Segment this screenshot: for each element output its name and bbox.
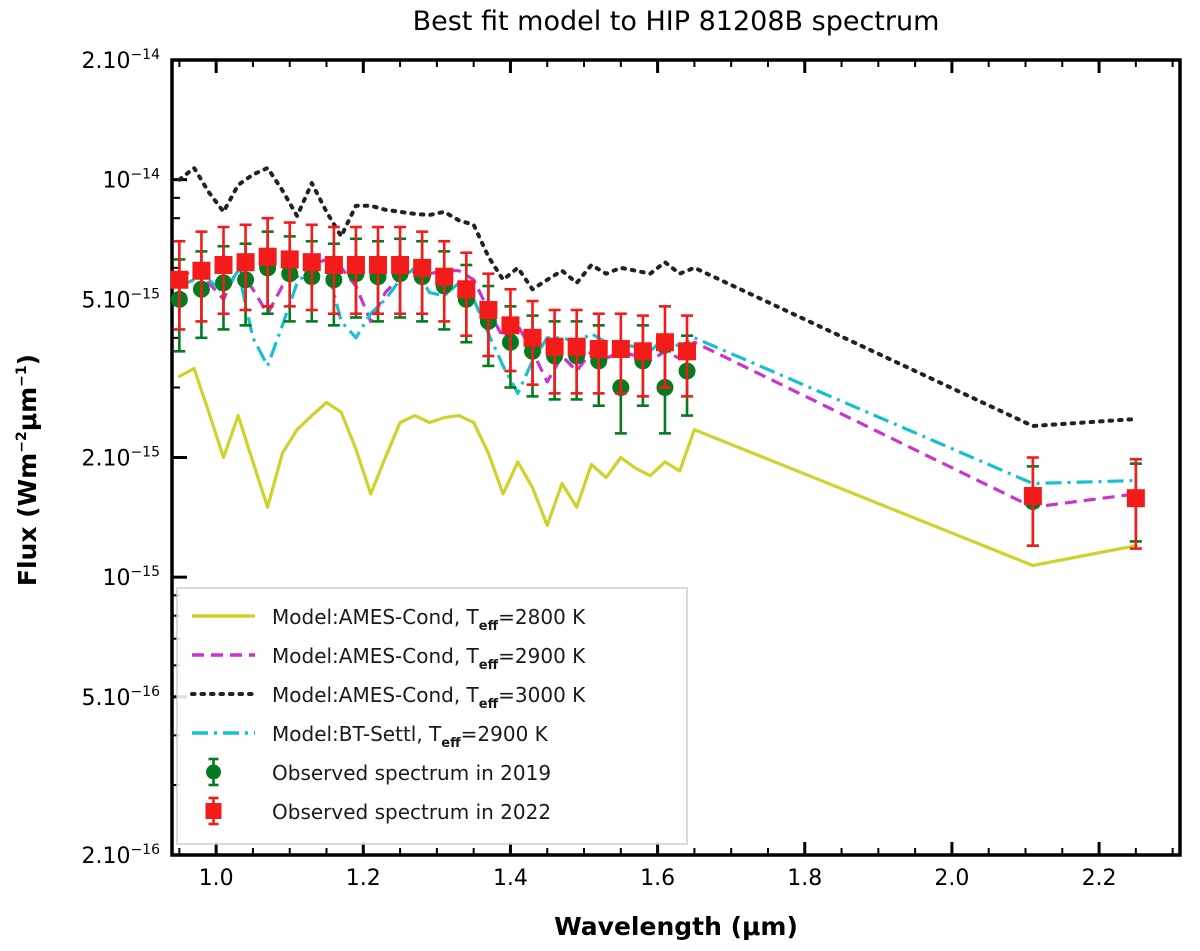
data-point-square xyxy=(413,259,431,277)
data-point-square xyxy=(656,333,674,351)
x-tick-label: 1.6 xyxy=(640,866,675,891)
data-point-square xyxy=(501,316,519,334)
spectrum-plot: Best fit model to HIP 81208B spectrum 1.… xyxy=(0,0,1200,951)
data-point-square xyxy=(259,248,277,266)
data-point-square xyxy=(479,301,497,319)
x-tick-label: 1.4 xyxy=(493,866,528,891)
x-tick-label: 1.2 xyxy=(346,866,381,891)
data-point-square xyxy=(192,262,210,280)
data-point-square xyxy=(325,256,343,274)
data-point-square xyxy=(568,338,586,356)
legend-item-label: Observed spectrum in 2022 xyxy=(272,800,551,824)
data-point-square xyxy=(1024,487,1042,505)
page-title: Best fit model to HIP 81208B spectrum xyxy=(413,6,940,37)
data-point-square xyxy=(170,271,188,289)
x-tick-label: 1.8 xyxy=(787,866,822,891)
data-point-square xyxy=(347,256,365,274)
data-point-square xyxy=(391,256,409,274)
data-point-square xyxy=(524,329,542,347)
y-axis-label-text: Flux (Wm−2μm−1) xyxy=(13,354,42,586)
legend-swatch-circle xyxy=(206,765,221,780)
data-point-square xyxy=(1127,489,1145,507)
data-point-square xyxy=(590,340,608,358)
x-tick-label: 1.0 xyxy=(199,866,234,891)
data-point-square xyxy=(435,268,453,286)
data-point-square xyxy=(678,342,696,360)
data-point-square xyxy=(237,253,255,271)
y-axis-label: Flux (Wm−2μm−1) xyxy=(13,354,42,586)
data-point-square xyxy=(612,340,630,358)
data-point-square xyxy=(281,250,299,268)
data-point-square xyxy=(369,256,387,274)
data-point-square xyxy=(303,253,321,271)
legend-swatch-square xyxy=(206,803,222,819)
x-axis-label: Wavelength (μm) xyxy=(554,912,798,941)
data-point-square xyxy=(457,280,475,298)
data-point-square xyxy=(634,342,652,360)
data-point-square xyxy=(546,338,564,356)
x-tick-label: 2.2 xyxy=(1082,866,1117,891)
x-tick-label: 2.0 xyxy=(934,866,969,891)
chart-legend: Model:AMES-Cond, Teff=2800 KModel:AMES-C… xyxy=(177,588,687,844)
legend-item-label: Observed spectrum in 2019 xyxy=(272,761,551,785)
data-point-square xyxy=(215,256,233,274)
chart-figure: Best fit model to HIP 81208B spectrum 1.… xyxy=(0,0,1200,951)
